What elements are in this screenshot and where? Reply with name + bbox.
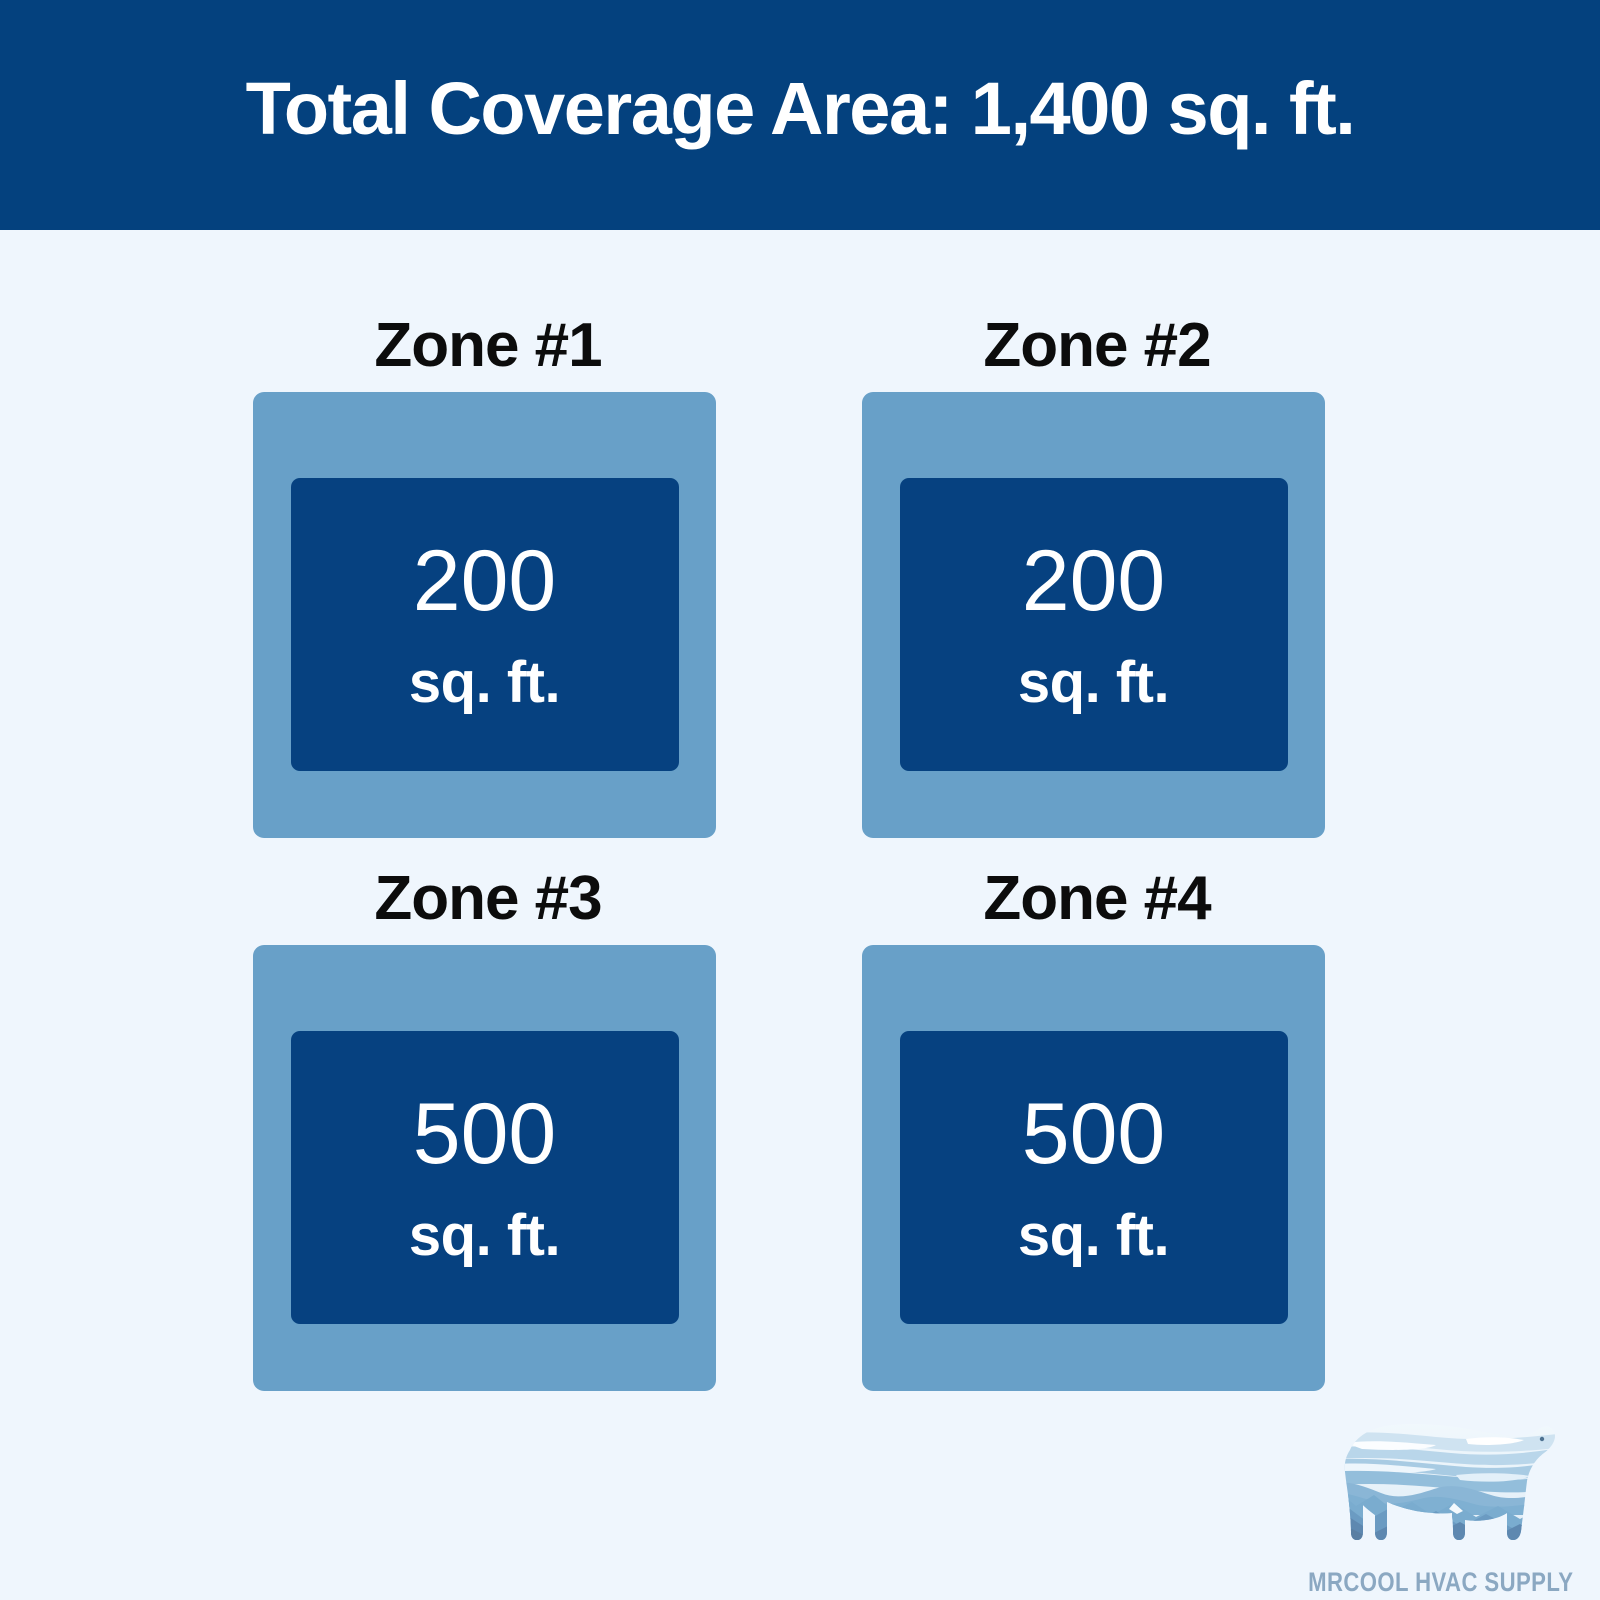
zone-unit-2: sq. ft. <box>1018 654 1169 712</box>
zone-inner-box-4: 500 sq. ft. <box>900 1031 1288 1324</box>
zone-label-2: Zone #2 <box>862 300 1332 392</box>
zone-card-1: 200 sq. ft. <box>253 392 716 838</box>
zone-inner-box-1: 200 sq. ft. <box>291 478 679 771</box>
zone-block-3: Zone #3 500 sq. ft. <box>253 853 723 1391</box>
zone-label-3: Zone #3 <box>253 853 723 945</box>
zone-value-4: 500 <box>1022 1091 1166 1177</box>
zone-card-2: 200 sq. ft. <box>862 392 1325 838</box>
polar-bear-icon <box>1316 1403 1566 1563</box>
zone-label-4: Zone #4 <box>862 853 1332 945</box>
bear-eye-icon <box>1540 1437 1544 1441</box>
brand-logo: MRCOOL HVAC SUPPLY <box>1296 1383 1586 1598</box>
zone-label-1: Zone #1 <box>253 300 723 392</box>
zone-inner-box-3: 500 sq. ft. <box>291 1031 679 1324</box>
zone-block-1: Zone #1 200 sq. ft. <box>253 300 723 838</box>
header-banner: Total Coverage Area: 1,400 sq. ft. <box>0 0 1600 230</box>
zone-unit-4: sq. ft. <box>1018 1207 1169 1265</box>
zone-value-3: 500 <box>413 1091 557 1177</box>
zone-card-3: 500 sq. ft. <box>253 945 716 1391</box>
zone-value-2: 200 <box>1022 538 1166 624</box>
zone-value-1: 200 <box>413 538 557 624</box>
zone-card-4: 500 sq. ft. <box>862 945 1325 1391</box>
zone-unit-3: sq. ft. <box>409 1207 560 1265</box>
brand-name: MRCOOL HVAC SUPPLY <box>1308 1567 1573 1598</box>
zone-unit-1: sq. ft. <box>409 654 560 712</box>
zone-block-4: Zone #4 500 sq. ft. <box>862 853 1332 1391</box>
zone-inner-box-2: 200 sq. ft. <box>900 478 1288 771</box>
infographic-canvas: Total Coverage Area: 1,400 sq. ft. Zone … <box>0 0 1600 1600</box>
page-title: Total Coverage Area: 1,400 sq. ft. <box>246 70 1355 148</box>
zone-block-2: Zone #2 200 sq. ft. <box>862 300 1332 838</box>
